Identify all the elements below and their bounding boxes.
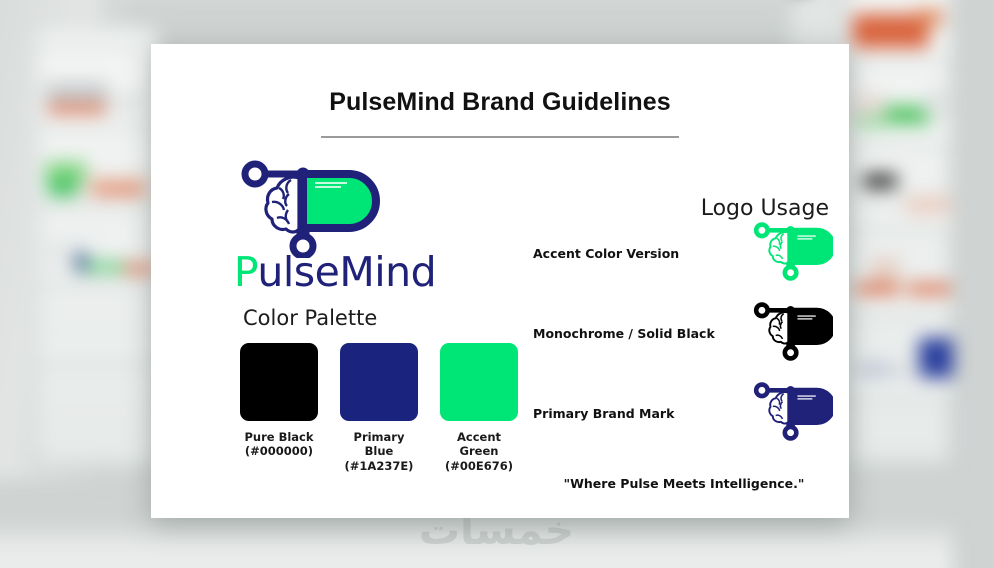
logo-variant-mark-primary	[747, 374, 833, 453]
right-column: Logo Usage Accent Color Version	[519, 138, 849, 486]
color-swatch-item: Accent Green (#00E676)	[440, 343, 518, 473]
color-swatch-item: Primary Blue (#1A237E)	[340, 343, 418, 473]
color-chip-accent-green[interactable]	[440, 343, 518, 421]
logo-brain-icon	[266, 177, 299, 232]
background-shelf-cabinet-left	[32, 26, 160, 468]
color-palette-heading: Color Palette	[243, 306, 377, 330]
left-column: PulseMind Color Palette Pure Black (#000…	[151, 138, 519, 486]
wordmark-initial: P	[234, 248, 258, 296]
card-body: PulseMind Color Palette Pure Black (#000…	[151, 138, 849, 486]
logo-node-top	[245, 164, 265, 184]
logo-variant-mark-accent	[747, 214, 833, 293]
page-title: PulseMind Brand Guidelines	[151, 88, 849, 117]
brand-tagline: "Where Pulse Meets Intelligence."	[519, 476, 849, 491]
logo-variant-label: Monochrome / Solid Black	[533, 326, 715, 341]
color-hex: (#1A237E)	[340, 459, 418, 473]
wordmark-rest: ulseMind	[257, 248, 436, 296]
color-chip-caption: Accent Green (#00E676)	[440, 430, 518, 473]
brand-guidelines-card: PulseMind Brand Guidelines	[151, 44, 849, 518]
background-shelf-cabinet-right	[845, 0, 953, 466]
color-chip-primary-blue[interactable]	[340, 343, 418, 421]
color-chip-caption: Primary Blue (#1A237E)	[340, 430, 418, 473]
color-hex: (#00E676)	[440, 459, 518, 473]
color-name: Primary Blue	[340, 430, 418, 459]
color-name: Accent Green	[440, 430, 518, 459]
color-chip-caption: Pure Black (#000000)	[240, 430, 318, 459]
logo-variant-primary-brand-mark: Primary Brand Mark	[533, 406, 843, 421]
logo-wordmark: PulseMind	[151, 248, 519, 296]
logo-variant-label: Accent Color Version	[533, 246, 679, 261]
color-name: Pure Black	[240, 430, 318, 444]
color-swatch-list: Pure Black (#000000) Primary Blue (#1A23…	[240, 343, 518, 473]
logo-variant-label: Primary Brand Mark	[533, 406, 674, 421]
color-chip-pure-black[interactable]	[240, 343, 318, 421]
logo-variant-mark-monochrome	[747, 294, 833, 373]
color-hex: (#000000)	[240, 444, 318, 458]
logo-variant-monochrome: Monochrome / Solid Black	[533, 326, 843, 341]
logo-variant-accent-color: Accent Color Version	[533, 246, 843, 261]
pulsemind-logo-icon-black	[747, 294, 833, 368]
color-swatch-item: Pure Black (#000000)	[240, 343, 318, 473]
pulsemind-logo-icon	[229, 158, 441, 258]
pulsemind-logo-icon-navy	[747, 374, 833, 448]
pulsemind-logo-icon-accent	[747, 214, 833, 288]
